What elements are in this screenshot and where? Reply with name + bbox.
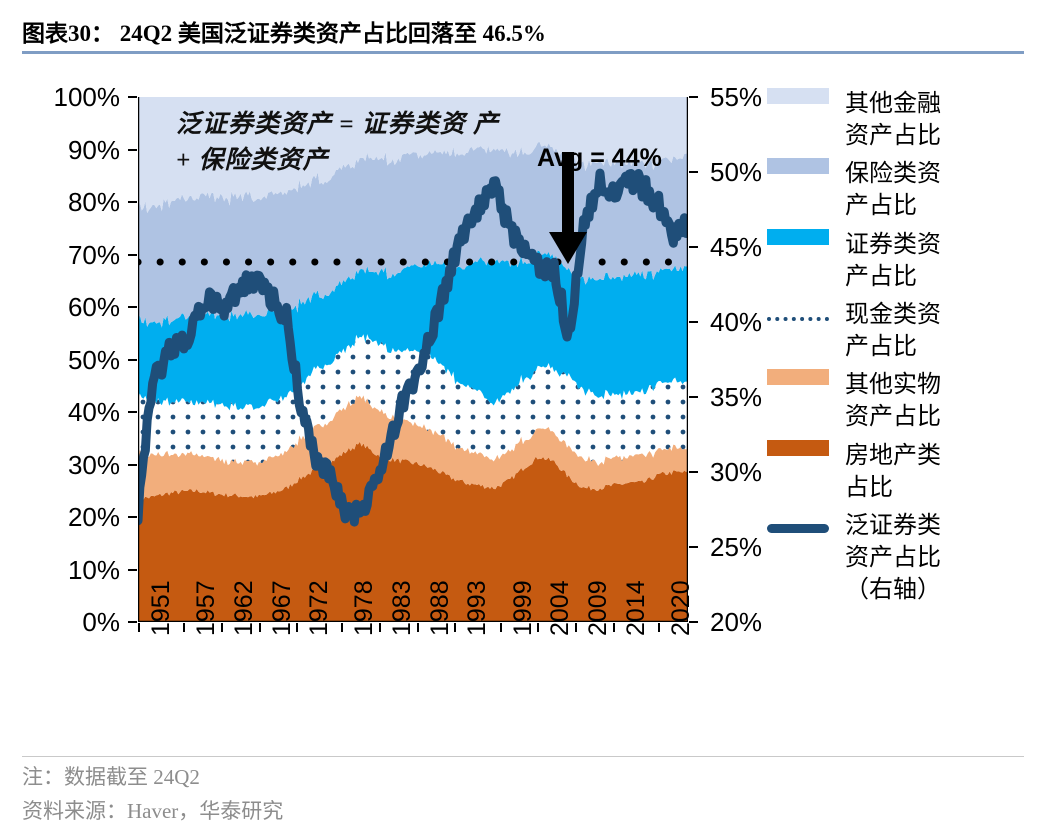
- y-axis-right-tick-mark: [689, 546, 698, 548]
- y-axis-right-tick-mark: [689, 471, 698, 473]
- y-axis-left-tick-label: 80%: [68, 189, 120, 215]
- x-axis-tick-label: 1999: [511, 580, 536, 636]
- x-axis-tick-mark: [221, 623, 223, 632]
- x-axis-tick-label: 1957: [194, 580, 219, 636]
- legend-item-label: 其他金融 资产占比: [845, 88, 941, 152]
- y-axis-right-tick-mark: [689, 321, 698, 323]
- title-divider: [22, 51, 1024, 54]
- x-axis-tick-mark: [379, 623, 381, 632]
- formula-annotation: 泛证券类资产 = 证券类资 产 + 保险类资产: [176, 107, 506, 178]
- x-axis-tick-label: 2020: [669, 580, 694, 636]
- x-axis-tick-mark: [613, 623, 615, 632]
- footer-note: 注：数据截至 24Q2: [22, 760, 1026, 794]
- y-axis-left-tick-mark: [128, 306, 137, 308]
- y-axis-left-tick-label: 90%: [68, 137, 120, 163]
- x-axis-tick-mark: [537, 623, 539, 632]
- y-axis-left-tick-mark: [128, 201, 137, 203]
- y-axis-left-tick-mark: [128, 516, 137, 518]
- x-axis-tick-label: 1972: [307, 580, 332, 636]
- y-axis-left-tick-label: 70%: [68, 242, 120, 268]
- legend-swatch-icon: [767, 88, 829, 104]
- legend-item-label: 证券类资 产占比: [845, 229, 941, 293]
- legend-item-label: 保险类资 产占比: [845, 158, 941, 222]
- chart-legend: 其他金融 资产占比保险类资 产占比证券类资 产占比现金类资 产占比其他实物 资产…: [767, 88, 1037, 612]
- figure-footer: 注：数据截至 24Q2 资料来源：Haver，华泰研究: [22, 760, 1026, 828]
- x-axis-tick-mark: [296, 623, 298, 632]
- x-axis-tick-label: 1988: [428, 580, 453, 636]
- y-axis-right-tick-label: 35%: [710, 384, 762, 410]
- legend-swatch-icon: [767, 158, 829, 174]
- legend-item-3[interactable]: 现金类资 产占比: [767, 299, 1037, 363]
- x-axis-tick-label: 1962: [232, 580, 257, 636]
- legend-swatch-icon: [767, 317, 829, 321]
- y-axis-left-tick-label: 60%: [68, 294, 120, 320]
- legend-swatch-icon: [767, 524, 829, 533]
- footer-source: 资料来源：Haver，华泰研究: [22, 794, 1026, 828]
- y-axis-left-tick-mark: [128, 464, 137, 466]
- y-axis-left-tick-mark: [128, 411, 137, 413]
- y-axis-left-tick-mark: [128, 254, 137, 256]
- legend-item-4[interactable]: 其他实物 资产占比: [767, 369, 1037, 433]
- x-axis-tick-mark: [454, 623, 456, 632]
- y-axis-right-tick-mark: [689, 396, 698, 398]
- x-axis-tick-mark: [500, 623, 502, 632]
- y-axis-right-tick-label: 40%: [710, 309, 762, 335]
- x-axis-tick-mark: [138, 623, 140, 632]
- y-axis-left-tick-label: 20%: [68, 504, 120, 530]
- y-axis-left-tick-label: 40%: [68, 399, 120, 425]
- y-axis-right-tick-mark: [689, 171, 698, 173]
- y-axis-right-tick-mark: [689, 246, 698, 248]
- legend-item-5[interactable]: 房地产类 占比: [767, 440, 1037, 504]
- y-axis-left-tick-label: 0%: [82, 609, 120, 635]
- x-axis-tick-label: 1993: [465, 580, 490, 636]
- legend-swatch-icon: [767, 369, 829, 385]
- legend-item-label: 房地产类 占比: [845, 440, 941, 504]
- page-title: 图表30： 24Q2 美国泛证券类资产占比回落至 46.5%: [22, 14, 1026, 48]
- x-axis-tick-mark: [417, 623, 419, 632]
- y-axis-left-tick-mark: [128, 621, 137, 623]
- y-axis-right-tick-label: 30%: [710, 459, 762, 485]
- y-axis-left-tick-mark: [128, 569, 137, 571]
- x-axis-tick-label: 2009: [586, 580, 611, 636]
- y-axis-right-tick-label: 45%: [710, 234, 762, 260]
- x-axis-tick-mark: [259, 623, 261, 632]
- y-axis-left-tick-label: 50%: [68, 347, 120, 373]
- x-axis-tick-mark: [658, 623, 660, 632]
- x-axis-tick-label: 1951: [149, 580, 174, 636]
- x-axis-tick-label: 1978: [352, 580, 377, 636]
- legend-swatch-icon: [767, 440, 829, 456]
- legend-item-1[interactable]: 保险类资 产占比: [767, 158, 1037, 222]
- y-axis-left-tick-mark: [128, 359, 137, 361]
- legend-swatch-icon: [767, 229, 829, 245]
- legend-item-0[interactable]: 其他金融 资产占比: [767, 88, 1037, 152]
- y-axis-left-tick-mark: [128, 149, 137, 151]
- y-axis-left-tick-mark: [128, 96, 137, 98]
- y-axis-left-tick-label: 30%: [68, 452, 120, 478]
- y-axis-right-tick-label: 55%: [710, 84, 762, 110]
- y-axis-right-tick-label: 25%: [710, 534, 762, 560]
- x-axis-tick-label: 1967: [270, 580, 295, 636]
- footer-divider: [22, 756, 1024, 757]
- y-axis-right-tick-mark: [689, 96, 698, 98]
- x-axis-tick-mark: [341, 623, 343, 632]
- legend-item-label: 其他实物 资产占比: [845, 369, 941, 433]
- x-axis-tick-label: 1983: [390, 580, 415, 636]
- x-axis-tick-label: 2004: [548, 580, 573, 636]
- figure-header: 图表30： 24Q2 美国泛证券类资产占比回落至 46.5%: [22, 14, 1026, 48]
- chart-container: 泛证券类资产 = 证券类资 产 + 保险类资产 Avg = 44% 其他金融 资…: [0, 60, 1048, 760]
- legend-item-6[interactable]: 泛证券类 资产占比 （右轴）: [767, 510, 1037, 606]
- legend-item-2[interactable]: 证券类资 产占比: [767, 229, 1037, 293]
- y-axis-right-tick-label: 20%: [710, 609, 762, 635]
- x-axis-tick-mark: [575, 623, 577, 632]
- y-axis-left-tick-label: 10%: [68, 557, 120, 583]
- x-axis-tick-mark: [183, 623, 185, 632]
- x-axis-tick-label: 2014: [624, 580, 649, 636]
- y-axis-left-tick-label: 100%: [54, 84, 121, 110]
- legend-item-label: 现金类资 产占比: [845, 299, 941, 363]
- legend-item-label: 泛证券类 资产占比 （右轴）: [845, 510, 941, 606]
- avg-annotation-label: Avg = 44%: [537, 144, 662, 173]
- y-axis-right-tick-label: 50%: [710, 159, 762, 185]
